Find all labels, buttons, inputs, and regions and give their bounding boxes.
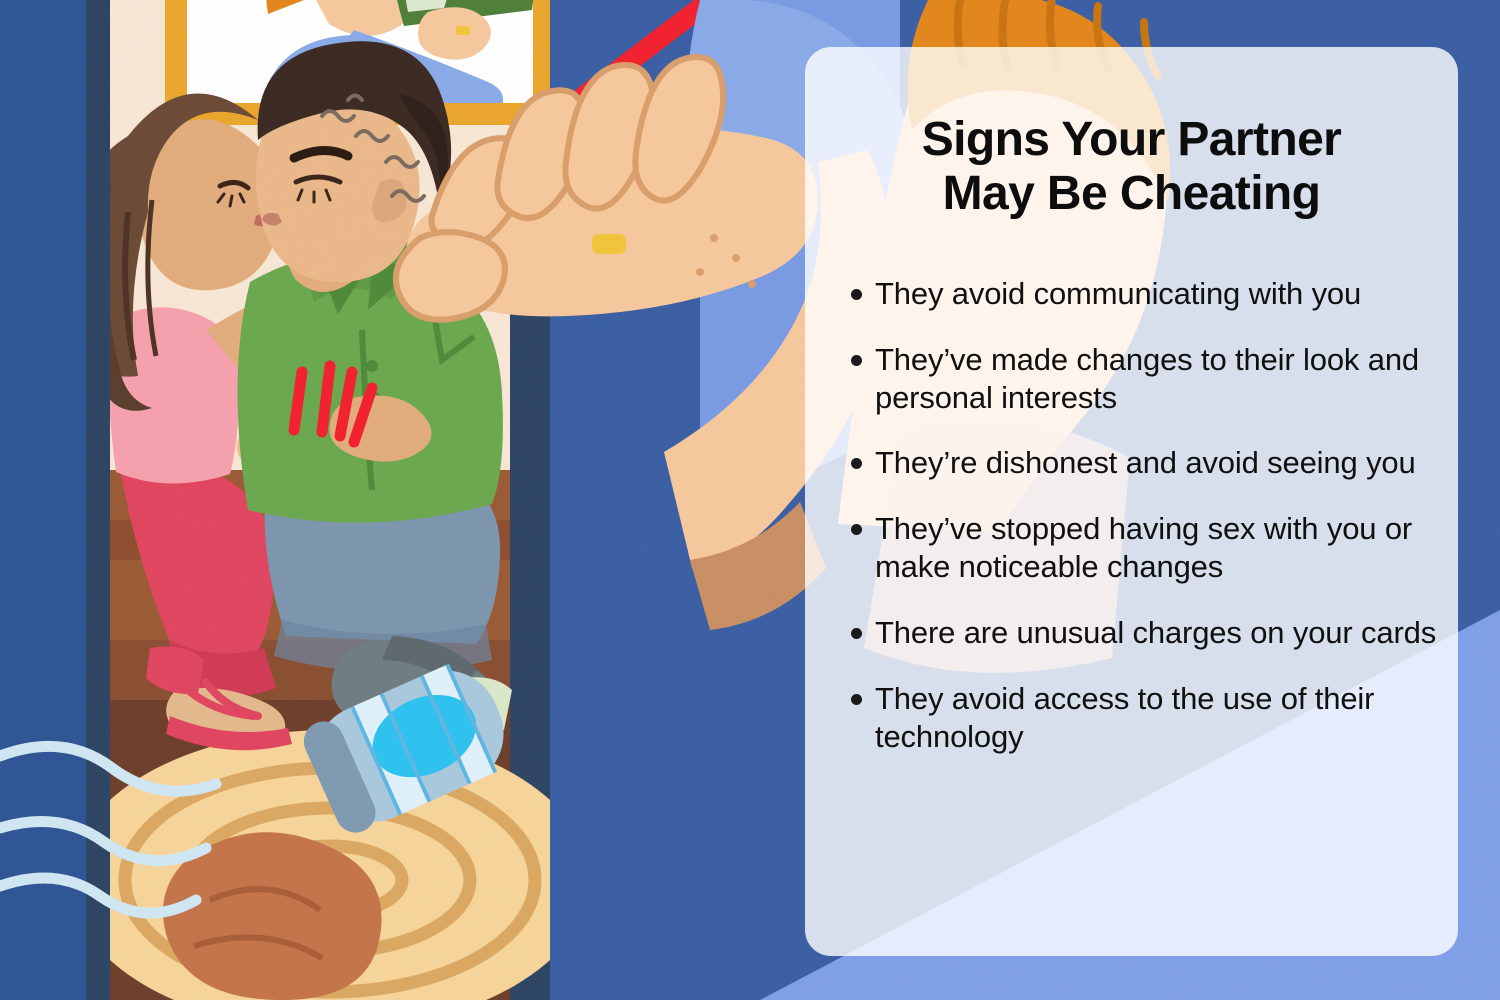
list-item-label: They avoid communicating with you [875, 276, 1361, 311]
bullet-dot-icon [851, 628, 862, 639]
bullet-dot-icon [851, 458, 862, 469]
list-item-label: They’ve stopped having sex with you or m… [875, 511, 1412, 584]
list-item: They avoid communicating with you [827, 275, 1440, 313]
page-title: Signs Your Partner May Be Cheating [805, 113, 1458, 221]
list-item: There are unusual charges on your cards [827, 614, 1440, 652]
bullet-dot-icon [851, 355, 862, 366]
infographic-canvas: Signs Your Partner May Be Cheating They … [0, 0, 1500, 1000]
list-item: They’ve stopped having sex with you or m… [827, 510, 1440, 586]
list-item-label: There are unusual charges on your cards [875, 615, 1436, 650]
list-item: They’re dishonest and avoid seeing you [827, 444, 1440, 482]
list-item-label: They avoid access to the use of their te… [875, 681, 1374, 754]
bullet-dot-icon [851, 524, 862, 535]
list-item: They’ve made changes to their look and p… [827, 341, 1440, 417]
list-item-label: They’ve made changes to their look and p… [875, 342, 1419, 415]
info-card: Signs Your Partner May Be Cheating They … [805, 47, 1458, 956]
bullet-dot-icon [851, 289, 862, 300]
signs-list: They avoid communicating with you They’v… [827, 275, 1440, 783]
list-item-label: They’re dishonest and avoid seeing you [875, 445, 1416, 480]
bullet-dot-icon [851, 694, 862, 705]
list-item: They avoid access to the use of their te… [827, 680, 1440, 756]
